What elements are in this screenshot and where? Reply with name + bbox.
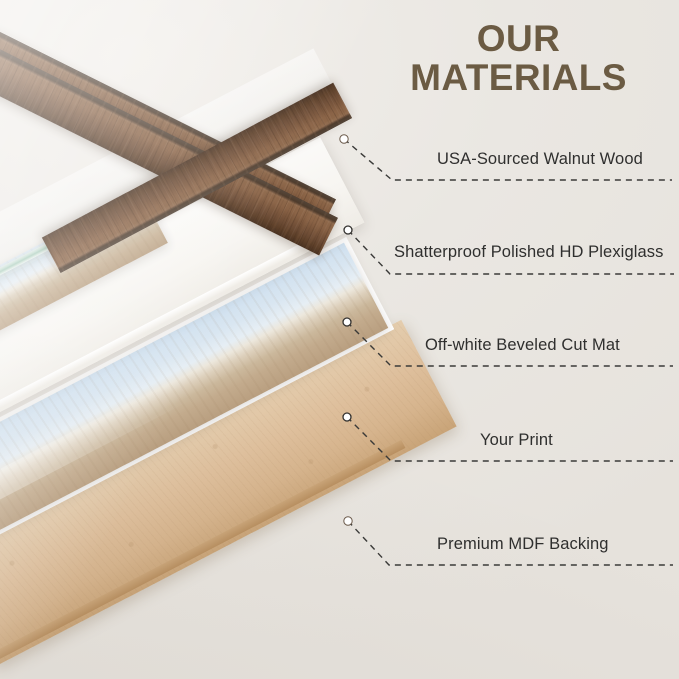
callout-label-mdf-backing: Premium MDF Backing — [437, 535, 609, 554]
callout-label-walnut-wood: USA-Sourced Walnut Wood — [437, 150, 643, 169]
callout-labels: USA-Sourced Walnut Wood Shatterproof Pol… — [0, 0, 679, 679]
callout-label-mat: Off-white Beveled Cut Mat — [425, 336, 620, 355]
materials-infographic: USA-Sourced Walnut Wood Shatterproof Pol… — [0, 0, 679, 679]
callout-label-plexiglass: Shatterproof Polished HD Plexiglass — [394, 243, 663, 262]
page-title: OUR MATERIALS — [366, 20, 671, 98]
callout-label-print: Your Print — [480, 431, 553, 450]
